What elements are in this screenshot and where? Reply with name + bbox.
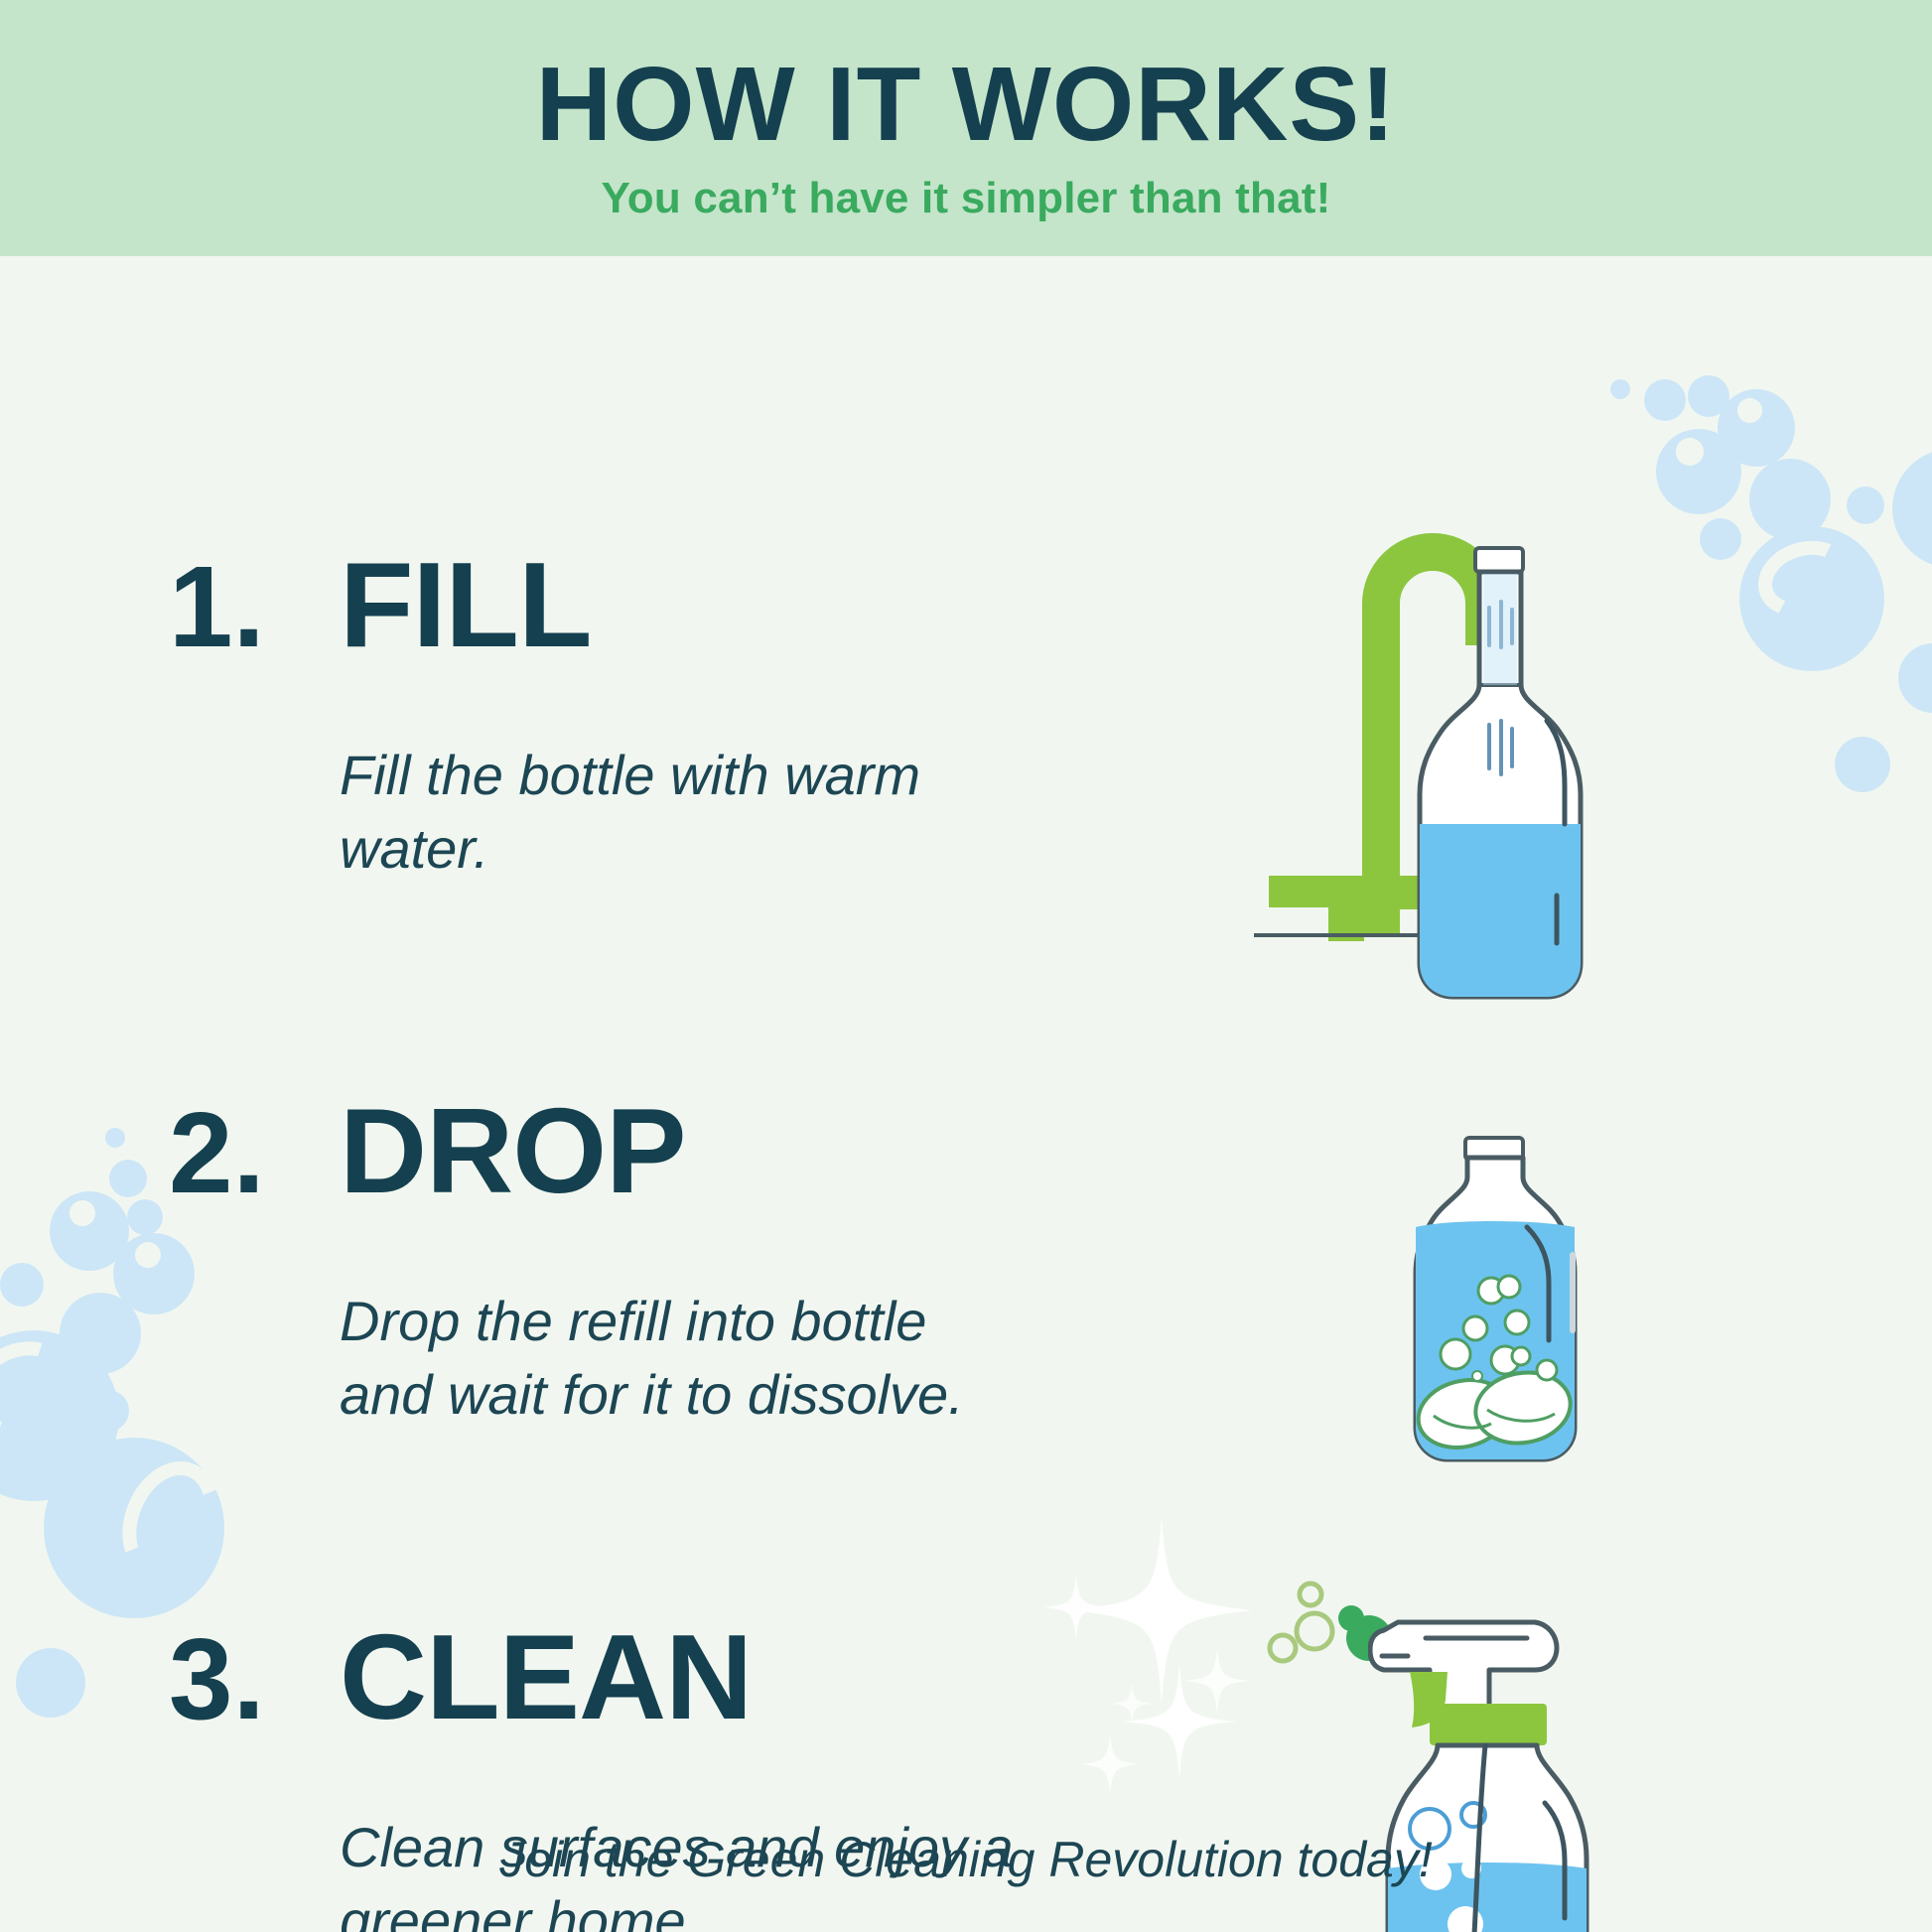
bubble: [1656, 429, 1741, 514]
step-1-heading: 1. FILL: [169, 544, 1072, 665]
step-1-description: Fill the bottle with warm water.: [169, 739, 953, 886]
step-2-title: DROP: [340, 1090, 685, 1211]
bubble-highlight-arc: [105, 1447, 236, 1594]
bubble: [1644, 379, 1686, 421]
step-2-text: 2. DROP Drop the refill into bottle and …: [0, 1090, 1072, 1432]
bubble: [44, 1438, 224, 1618]
list-item: 2. DROP Drop the refill into bottle and …: [0, 1090, 1932, 1432]
infographic-poster: HOW IT WORKS! You can’t have it simpler …: [0, 0, 1932, 1932]
step-3-number: 3.: [169, 1621, 340, 1736]
bubble: [1749, 459, 1831, 540]
bubble-highlight: [1676, 438, 1704, 466]
faucet-filling-bottle-icon: [1219, 526, 1646, 1023]
step-2-description: Drop the refill into bottle and wait for…: [169, 1285, 1023, 1432]
footer: Join the Green Cleaning Revolution today…: [0, 1831, 1932, 1888]
footer-cta-text: Join the Green Cleaning Revolution today…: [499, 1832, 1432, 1887]
page-title: HOW IT WORKS!: [536, 51, 1397, 158]
bubble: [1688, 375, 1729, 417]
step-2-heading: 2. DROP: [169, 1090, 1072, 1211]
bubble: [1610, 379, 1630, 399]
step-3-title: CLEAN: [340, 1616, 752, 1737]
step-1-number: 1.: [169, 549, 340, 664]
page-subtitle: You can’t have it simpler than that!: [602, 174, 1331, 223]
step-2-number: 2.: [169, 1095, 340, 1210]
bubble-highlight: [1737, 398, 1762, 423]
poster-header: HOW IT WORKS! You can’t have it simpler …: [0, 0, 1932, 256]
step-1-title: FILL: [340, 544, 591, 665]
step-1-text: 1. FILL Fill the bottle with warm water.: [0, 544, 1072, 886]
bottle-with-dissolving-tablets-icon: [1388, 1122, 1626, 1469]
step-3-heading: 3. CLEAN: [169, 1616, 1072, 1737]
bubble: [1847, 486, 1884, 524]
bubble: [1718, 389, 1795, 467]
